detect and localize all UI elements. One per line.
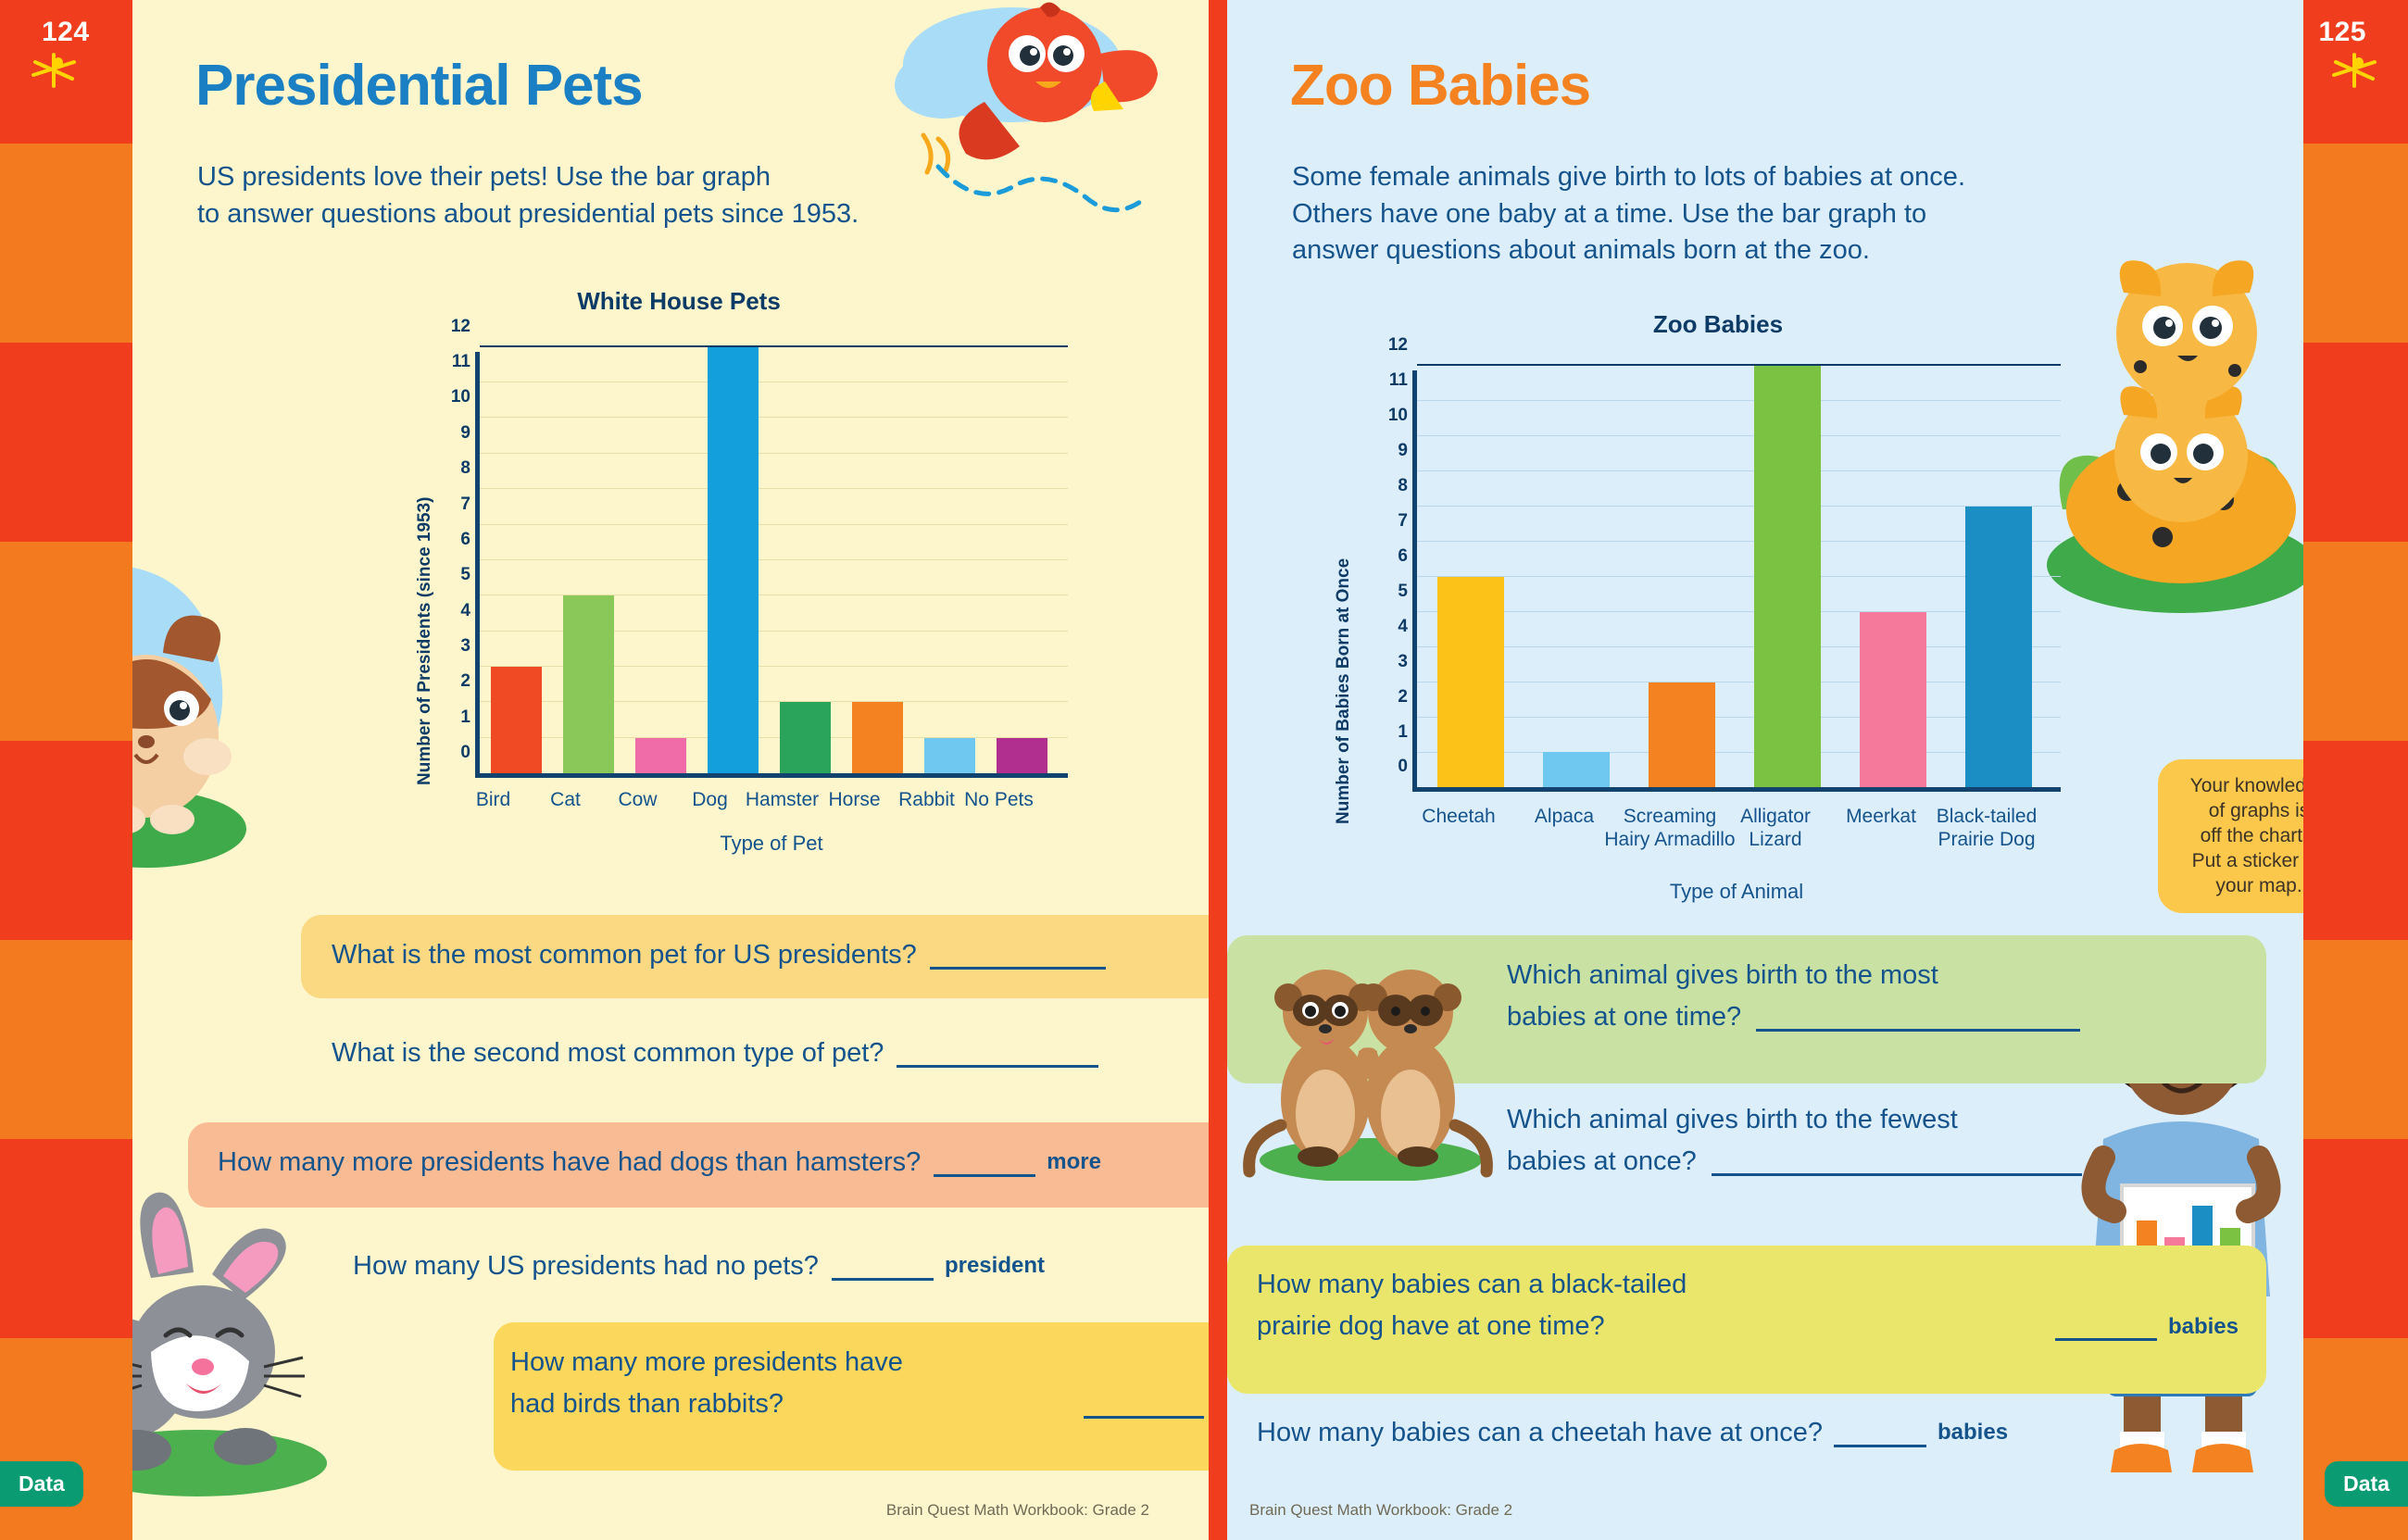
gridline (1417, 364, 2061, 366)
star-squiggle-icon (2330, 51, 2378, 90)
plot-area-left: 12 11 10 9 8 7 6 5 4 3 2 1 0 (475, 352, 1068, 778)
bird-mascot-illustration (846, 0, 1207, 269)
question-row-4[interactable]: How many US presidents had no pets? pres… (353, 1248, 1045, 1284)
question-text: Which animal gives birth to the fewest (1507, 1102, 1958, 1138)
footer-left: Brain Quest Math Workbook: Grade 2 (886, 1501, 1149, 1520)
answer-blank[interactable] (1834, 1420, 1926, 1447)
sticker-callout: Your knowledge of graphs is off the char… (2158, 759, 2303, 913)
question-row-5[interactable]: How many more presidents have had birds … (510, 1345, 1209, 1422)
meerkats-illustration (1236, 940, 1505, 1181)
sticker-line: of graphs is (2171, 799, 2303, 824)
y-tick: 1 (1371, 722, 1408, 743)
y-tick: 2 (433, 671, 470, 692)
bar (491, 667, 542, 773)
bar (1649, 682, 1715, 787)
gridline (1417, 717, 2061, 718)
answer-unit: more (1047, 1147, 1101, 1177)
page-title-left: Presidential Pets (195, 57, 643, 115)
gridline (1417, 400, 2061, 401)
center-gutter (1209, 0, 1227, 1540)
y-tick: 2 (1371, 687, 1408, 707)
stripe (2303, 741, 2408, 940)
gridline (1417, 541, 2061, 542)
stripe (0, 144, 132, 343)
stripe (2303, 940, 2408, 1139)
bar (997, 738, 1047, 773)
bar (1965, 507, 2032, 787)
y-axis-label-right: Number of Babies Born at Once (1334, 558, 1354, 824)
y-tick: 3 (1371, 652, 1408, 672)
y-tick: 10 (1371, 406, 1408, 426)
question-line: babies at one time? (1507, 999, 2239, 1035)
y-tick: 12 (1371, 335, 1408, 356)
chart-left: Number of Presidents (since 1953) 12 11 … (318, 343, 1207, 861)
y-tick: 5 (1371, 582, 1408, 602)
bar (563, 595, 614, 773)
x-axis-title-right: Type of Animal (1412, 880, 2061, 904)
gridline (480, 524, 1068, 525)
gridline (1417, 646, 2061, 647)
question-row-1[interactable]: What is the most common pet for US presi… (332, 937, 1106, 973)
chart-title-right: Zoo Babies (1357, 310, 2079, 339)
bar (852, 702, 903, 773)
plot-area-right: 12 11 10 9 8 7 6 5 4 3 2 1 0 (1412, 370, 2061, 792)
rabbit-illustration (132, 1185, 364, 1500)
question-text: babies at once? (1507, 1144, 1697, 1180)
y-tick: 8 (1371, 476, 1408, 496)
bar (635, 738, 686, 773)
stripe (2303, 343, 2408, 542)
answer-blank[interactable] (897, 1040, 1098, 1068)
y-tick: 12 (433, 317, 470, 337)
answer-unit: babies (1938, 1418, 2008, 1447)
gridline (1417, 752, 2061, 753)
bar (780, 702, 831, 773)
gridline (1417, 576, 2061, 577)
question-line: had birds than rabbits? more (510, 1386, 1209, 1422)
y-tick: 7 (1371, 511, 1408, 532)
answer-unit: president (945, 1251, 1045, 1281)
question-text: How many more presidents have (510, 1345, 903, 1381)
y-tick: 6 (433, 530, 470, 550)
gridline (480, 345, 1068, 347)
answer-blank[interactable] (2055, 1313, 2157, 1341)
y-tick: 0 (1371, 757, 1408, 777)
y-tick: 8 (433, 458, 470, 479)
y-tick: 3 (433, 636, 470, 657)
section-tab-data-left[interactable]: Data (0, 1461, 83, 1507)
stripe (0, 542, 132, 741)
question-text: Which animal gives birth to the most (1507, 958, 1938, 994)
question-row-2[interactable]: Which animal gives birth to the fewest b… (1507, 1102, 2239, 1180)
question-text: What is the most common pet for US presi… (332, 937, 917, 973)
gridline (1417, 435, 2061, 436)
stripe (2303, 542, 2408, 741)
question-row-3[interactable]: How many more presidents have had dogs t… (218, 1145, 1101, 1181)
question-row-3[interactable]: How many babies can a black-tailed prair… (1257, 1267, 2239, 1345)
intro-line: US presidents love their pets! Use the b… (197, 159, 938, 196)
question-row-1[interactable]: Which animal gives birth to the most bab… (1507, 958, 2239, 1035)
gridline (480, 559, 1068, 560)
page-number-left: 124 (42, 17, 90, 48)
question-text: What is the second most common type of p… (332, 1035, 884, 1071)
section-tab-data-right[interactable]: Data (2325, 1461, 2408, 1507)
bar (708, 347, 759, 773)
question-line: How many more presidents have (510, 1345, 1209, 1381)
stripe (0, 940, 132, 1139)
stripe (0, 1338, 132, 1540)
gridline (1417, 506, 2061, 507)
star-squiggle-icon (30, 51, 78, 90)
question-text: How many babies can a cheetah have at on… (1257, 1415, 1823, 1451)
y-tick: 9 (433, 423, 470, 444)
question-line: prairie dog have at one time? babies (1257, 1308, 2239, 1345)
answer-blank[interactable] (930, 942, 1106, 970)
question-line: Which animal gives birth to the fewest (1507, 1102, 2239, 1138)
y-tick: 9 (1371, 441, 1408, 461)
sticker-line: Put a sticker on (2171, 849, 2303, 874)
stripe (0, 741, 132, 940)
bar (1437, 577, 1504, 787)
question-text: had birds than rabbits? (510, 1386, 784, 1422)
y-tick: 1 (433, 707, 470, 728)
question-line: How many babies can a black-tailed (1257, 1267, 2239, 1303)
chart-right: Number of Babies Born at Once 12 11 10 9… (1357, 361, 2135, 880)
sticker-line: Your knowledge (2171, 774, 2303, 799)
y-tick: 0 (433, 743, 470, 763)
page-right: Zoo Babies Some female animals give birt… (1227, 0, 2303, 1540)
question-text: How many US presidents had no pets? (353, 1248, 819, 1284)
answer-blank[interactable] (832, 1253, 934, 1281)
stripe (0, 343, 132, 542)
y-tick: 4 (1371, 617, 1408, 637)
intro-line: to answer questions about presidential p… (197, 196, 938, 233)
sticker-line: off the charts! (2171, 824, 2303, 849)
question-row-4[interactable]: How many babies can a cheetah have at on… (1257, 1415, 2008, 1451)
intro-text-left: US presidents love their pets! Use the b… (197, 159, 938, 232)
gridline (1417, 682, 2061, 682)
y-tick: 5 (433, 565, 470, 585)
y-tick: 11 (1371, 370, 1408, 391)
bar (924, 738, 975, 773)
x-tick-label: No Pets (955, 789, 1043, 812)
gridline (480, 488, 1068, 489)
question-row-2[interactable]: What is the second most common type of p… (332, 1035, 1098, 1071)
gridline (480, 382, 1068, 382)
left-stripe-column (0, 0, 132, 1540)
stripe (2303, 1139, 2408, 1338)
question-text: babies at one time? (1507, 999, 1741, 1035)
gridline (1417, 611, 2061, 612)
x-axis-title-left: Type of Pet (475, 832, 1068, 856)
y-tick: 10 (433, 387, 470, 407)
hamster-illustration (132, 551, 295, 884)
y-tick: 7 (433, 495, 470, 515)
answer-blank[interactable] (1084, 1391, 1204, 1419)
question-text: prairie dog have at one time? (1257, 1308, 1605, 1345)
question-text: How many more presidents have had dogs t… (218, 1145, 921, 1181)
gridline (480, 417, 1068, 418)
chart-title-left: White House Pets (336, 287, 1022, 316)
x-tick-label: Black-tailedPrairie Dog (1903, 806, 2070, 852)
page-number-right: 125 (2318, 17, 2366, 48)
bar (1754, 366, 1821, 787)
intro-line: Others have one baby at a time. Use the … (1292, 196, 2200, 233)
answer-blank[interactable] (934, 1149, 1035, 1177)
answer-unit: babies (2168, 1312, 2239, 1342)
intro-line: Some female animals give birth to lots o… (1292, 159, 2200, 196)
question-line: babies at once? (1507, 1144, 2239, 1180)
gridline (1417, 470, 2061, 471)
right-stripe-column (2303, 0, 2408, 1540)
gridline (480, 453, 1068, 454)
page-left: Presidential Pets US presidents love the… (132, 0, 1209, 1540)
y-axis-label-left: Number of Presidents (since 1953) (415, 497, 435, 786)
y-tick: 4 (433, 601, 470, 621)
stripe (0, 1139, 132, 1338)
answer-blank[interactable] (1712, 1148, 2082, 1176)
y-tick: 6 (1371, 546, 1408, 567)
bar (1860, 612, 1926, 787)
footer-right: Brain Quest Math Workbook: Grade 2 (1249, 1501, 1512, 1520)
stripe (2303, 1338, 2408, 1540)
sticker-line: your map. (2171, 874, 2303, 899)
stripe (2303, 144, 2408, 343)
bar (1543, 752, 1610, 787)
page-title-right: Zoo Babies (1290, 57, 1590, 115)
answer-blank[interactable] (1756, 1004, 2080, 1032)
y-tick: 11 (433, 352, 470, 372)
question-line: Which animal gives birth to the most (1507, 958, 2239, 994)
question-text: How many babies can a black-tailed (1257, 1267, 1687, 1303)
